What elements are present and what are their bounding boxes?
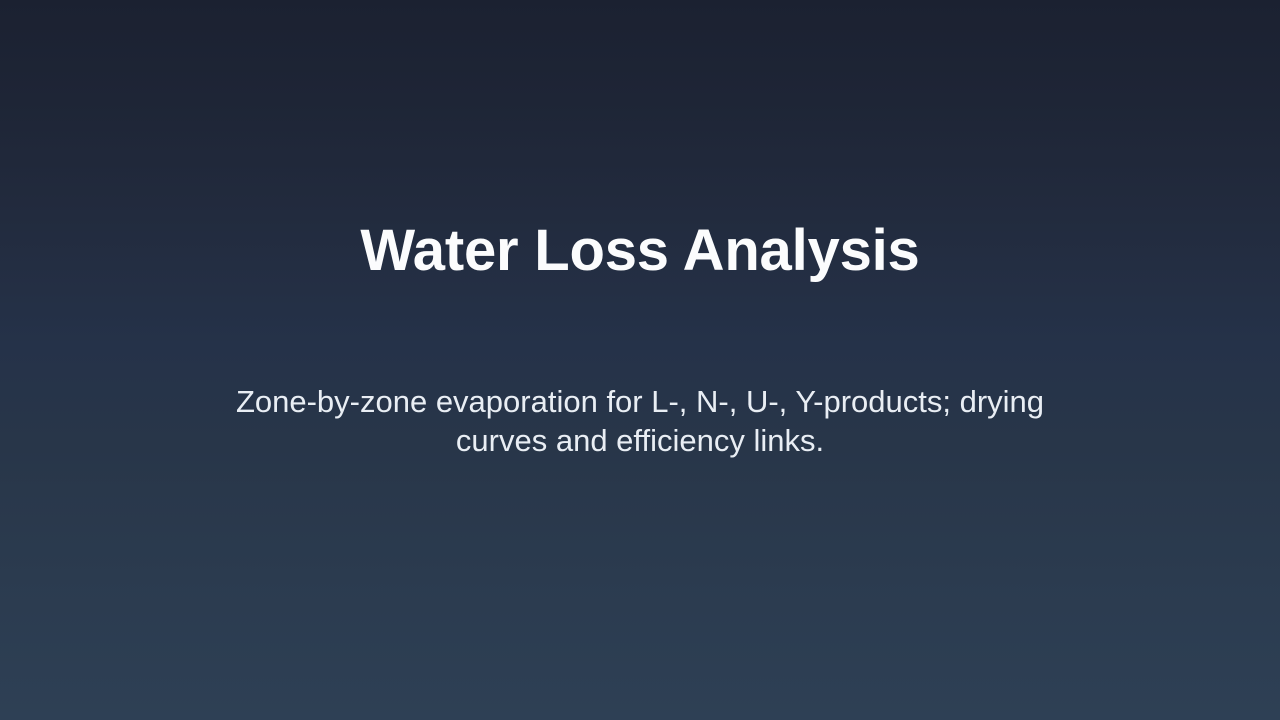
slide-subtitle: Zone-by-zone evaporation for L-, N-, U-,… xyxy=(216,382,1064,461)
subtitle-block: Zone-by-zone evaporation for L-, N-, U-,… xyxy=(0,382,1280,461)
page-title: Water Loss Analysis xyxy=(360,217,919,285)
title-block: Water Loss Analysis xyxy=(0,217,1280,285)
title-slide: Water Loss Analysis Zone-by-zone evapora… xyxy=(0,0,1280,720)
slide-content: Water Loss Analysis Zone-by-zone evapora… xyxy=(0,0,1280,720)
